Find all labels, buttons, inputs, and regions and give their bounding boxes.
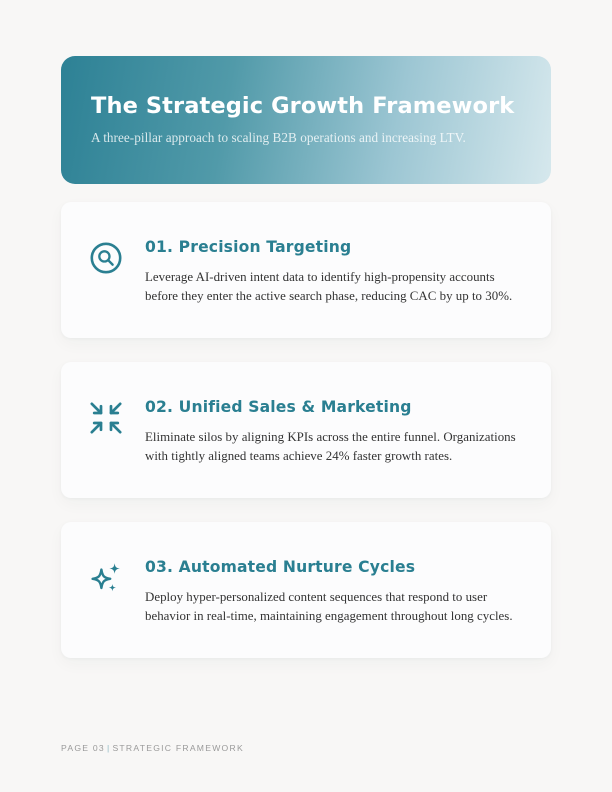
pillar-body: 01. Precision Targeting Leverage AI-driv… [145, 224, 525, 307]
pillar-card[interactable]: 01. Precision Targeting Leverage AI-driv… [61, 202, 551, 338]
pillar-description: Leverage AI-driven intent data to identi… [145, 268, 523, 307]
pillar-body: 02. Unified Sales & Marketing Eliminate … [145, 384, 525, 467]
footer: PAGE 03|STRATEGIC FRAMEWORK [61, 743, 244, 753]
pillar-card[interactable]: 02. Unified Sales & Marketing Eliminate … [61, 362, 551, 498]
compress-arrows-icon [89, 401, 123, 435]
footer-page-label: PAGE 03 [61, 743, 105, 753]
hero-banner: The Strategic Growth Framework A three-p… [61, 56, 551, 184]
pillar-description: Eliminate silos by aligning KPIs across … [145, 428, 523, 467]
slide-page: The Strategic Growth Framework A three-p… [0, 0, 612, 792]
page-subtitle: A three-pillar approach to scaling B2B o… [91, 130, 521, 146]
pillar-description: Deploy hyper-personalized content sequen… [145, 588, 523, 627]
pillar-body: 03. Automated Nurture Cycles Deploy hype… [145, 544, 525, 627]
pillar-card[interactable]: 03. Automated Nurture Cycles Deploy hype… [61, 522, 551, 658]
search-circle-icon [89, 241, 123, 275]
footer-section-label: STRATEGIC FRAMEWORK [112, 743, 244, 753]
pillar-title: 02. Unified Sales & Marketing [145, 398, 525, 417]
page-title: The Strategic Growth Framework [91, 94, 521, 120]
pillar-title: 01. Precision Targeting [145, 238, 525, 257]
sparkles-icon [89, 561, 123, 595]
pillar-title: 03. Automated Nurture Cycles [145, 558, 525, 577]
